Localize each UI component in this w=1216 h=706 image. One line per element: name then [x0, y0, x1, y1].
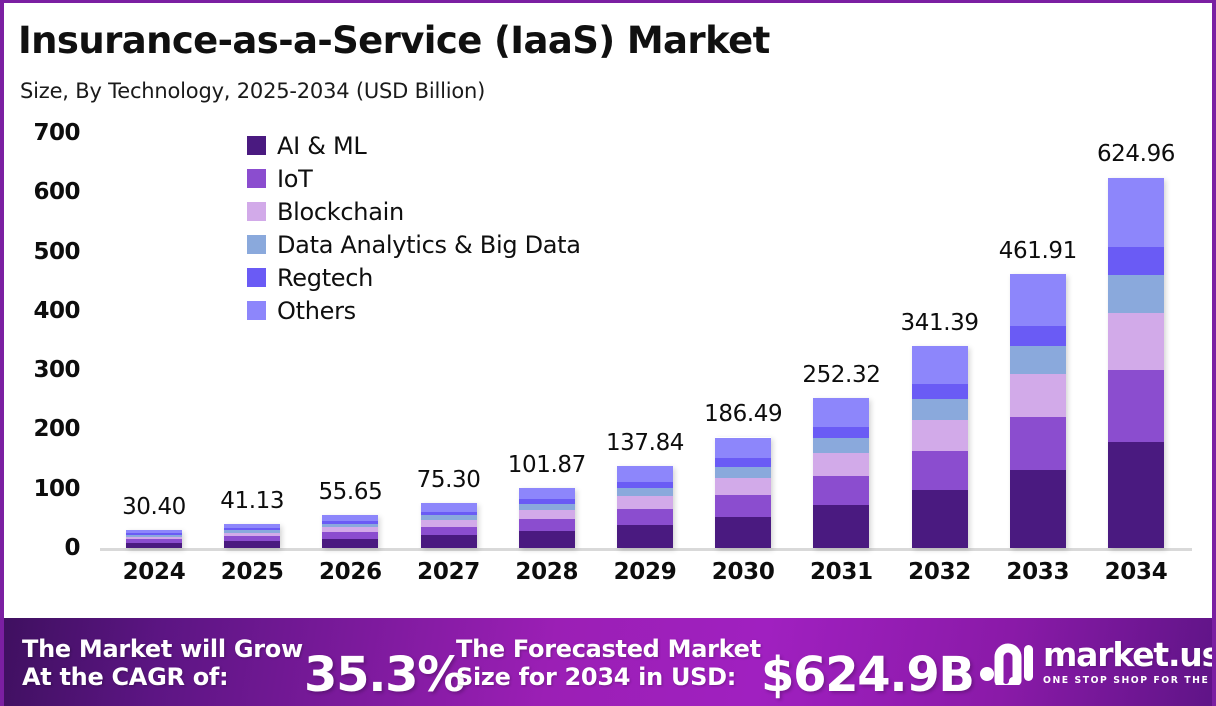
- bar-segment-ai-ml[interactable]: [224, 541, 280, 548]
- cagr-label-line1: The Market will Grow: [22, 635, 303, 663]
- bar-segment-blockchain[interactable]: [617, 496, 673, 509]
- market-us-logo-text: market.us ONE STOP SHOP FOR THE REPORTS: [1043, 638, 1216, 686]
- bar-segment-data-analytics-big-data[interactable]: [1010, 346, 1066, 374]
- bar-group-2030[interactable]: 186.492030: [715, 3, 771, 603]
- bar-segment-data-analytics-big-data[interactable]: [912, 399, 968, 420]
- chart-page: Insurance-as-a-Service (IaaS) Market Siz…: [0, 0, 1216, 706]
- bar-segment-regtech[interactable]: [813, 427, 869, 438]
- bar-segment-regtech[interactable]: [1010, 326, 1066, 347]
- y-axis-tick: 500: [4, 239, 80, 265]
- stacked-bar[interactable]: [421, 503, 477, 548]
- stacked-bar[interactable]: [813, 398, 869, 548]
- bar-total-label: 341.39: [865, 310, 1015, 336]
- bar-total-label: 186.49: [668, 401, 818, 427]
- stacked-bar[interactable]: [126, 530, 182, 548]
- bar-total-label: 624.96: [1061, 141, 1211, 167]
- bar-segment-blockchain[interactable]: [1108, 313, 1164, 370]
- stacked-bar[interactable]: [715, 437, 771, 548]
- bar-segment-blockchain[interactable]: [912, 420, 968, 451]
- stacked-bar[interactable]: [1010, 274, 1066, 548]
- bar-segment-ai-ml[interactable]: [912, 490, 968, 548]
- bar-segment-iot[interactable]: [421, 527, 477, 536]
- bar-segment-blockchain[interactable]: [519, 510, 575, 519]
- bar-segment-others[interactable]: [715, 438, 771, 459]
- bar-segment-others[interactable]: [519, 488, 575, 499]
- forecast-label-line1: The Forecasted Market: [456, 635, 761, 663]
- bar-segment-iot[interactable]: [813, 476, 869, 505]
- bar-segment-others[interactable]: [617, 466, 673, 481]
- bar-segment-ai-ml[interactable]: [126, 543, 182, 548]
- stacked-bar[interactable]: [617, 466, 673, 548]
- bar-segment-ai-ml[interactable]: [519, 531, 575, 548]
- bar-segment-regtech[interactable]: [912, 384, 968, 399]
- bar-segment-others[interactable]: [813, 398, 869, 426]
- bar-segment-regtech[interactable]: [715, 458, 771, 466]
- forecast-value: $624.9B: [761, 647, 974, 703]
- bar-segment-ai-ml[interactable]: [715, 517, 771, 549]
- bar-segment-iot[interactable]: [1010, 417, 1066, 470]
- bar-segment-blockchain[interactable]: [421, 520, 477, 527]
- y-axis-tick: 300: [4, 357, 80, 383]
- bar-segment-blockchain[interactable]: [813, 453, 869, 476]
- bar-total-label: 252.32: [766, 362, 916, 388]
- bar-group-2027[interactable]: 75.302027: [421, 3, 477, 603]
- bar-segment-data-analytics-big-data[interactable]: [1108, 275, 1164, 313]
- bar-segment-data-analytics-big-data[interactable]: [813, 438, 869, 453]
- logo-wordmark: market.us: [1043, 638, 1216, 671]
- cagr-label: The Market will Grow At the CAGR of:: [22, 635, 303, 692]
- bar-group-2025[interactable]: 41.132025: [224, 3, 280, 603]
- bar-group-2029[interactable]: 137.842029: [617, 3, 673, 603]
- legend-label: IoT: [277, 165, 313, 193]
- bar-group-2028[interactable]: 101.872028: [519, 3, 575, 603]
- forecast-label-line2: Size for 2034 in USD:: [456, 663, 761, 691]
- y-axis-tick: 200: [4, 416, 80, 442]
- bar-segment-ai-ml[interactable]: [421, 535, 477, 548]
- forecast-label: The Forecasted Market Size for 2034 in U…: [456, 635, 761, 692]
- bar-total-label: 137.84: [570, 430, 720, 456]
- cagr-value: 35.3%: [304, 647, 464, 703]
- stacked-bar[interactable]: [322, 515, 378, 548]
- bar-total-label: 461.91: [963, 238, 1113, 264]
- logo-tagline: ONE STOP SHOP FOR THE REPORTS: [1043, 675, 1216, 686]
- cagr-label-line2: At the CAGR of:: [22, 663, 303, 691]
- bar-segment-ai-ml[interactable]: [1108, 442, 1164, 548]
- bar-segment-regtech[interactable]: [1108, 247, 1164, 275]
- stacked-bar[interactable]: [224, 524, 280, 548]
- bar-segment-others[interactable]: [421, 503, 477, 511]
- stacked-bar[interactable]: [912, 346, 968, 548]
- bar-segment-others[interactable]: [1010, 274, 1066, 325]
- bar-segment-data-analytics-big-data[interactable]: [715, 467, 771, 478]
- bar-segment-ai-ml[interactable]: [1010, 470, 1066, 548]
- bar-segment-iot[interactable]: [519, 519, 575, 531]
- bar-segment-ai-ml[interactable]: [322, 539, 378, 548]
- bar-group-2026[interactable]: 55.652026: [322, 3, 378, 603]
- bar-segment-iot[interactable]: [715, 495, 771, 517]
- stacked-bar[interactable]: [1108, 178, 1164, 549]
- stacked-bar[interactable]: [519, 488, 575, 548]
- bar-segment-iot[interactable]: [1108, 370, 1164, 442]
- bar-segment-others[interactable]: [912, 346, 968, 384]
- bar-segment-iot[interactable]: [912, 451, 968, 490]
- bar-segment-data-analytics-big-data[interactable]: [617, 488, 673, 496]
- bar-group-2032[interactable]: 341.392032: [912, 3, 968, 603]
- bar-segment-blockchain[interactable]: [715, 478, 771, 495]
- market-us-logo-icon: [979, 639, 1035, 685]
- y-axis-tick: 600: [4, 179, 80, 205]
- bar-group-2031[interactable]: 252.322031: [813, 3, 869, 603]
- y-axis-tick: 0: [4, 535, 80, 561]
- bar-group-2033[interactable]: 461.912033: [1010, 3, 1066, 603]
- bottom-banner: The Market will Grow At the CAGR of: 35.…: [4, 618, 1216, 706]
- market-us-logo[interactable]: market.us ONE STOP SHOP FOR THE REPORTS: [979, 638, 1216, 686]
- y-axis-tick: 100: [4, 476, 80, 502]
- y-axis-tick: 700: [4, 120, 80, 146]
- bar-segment-others[interactable]: [1108, 178, 1164, 248]
- bar-segment-iot[interactable]: [617, 509, 673, 525]
- bar-segment-ai-ml[interactable]: [617, 525, 673, 548]
- x-axis-tick-2034: 2034: [1061, 559, 1211, 585]
- bar-segment-blockchain[interactable]: [1010, 374, 1066, 416]
- y-axis-tick: 400: [4, 298, 80, 324]
- bar-group-2034[interactable]: 624.962034: [1108, 3, 1164, 603]
- bar-segment-ai-ml[interactable]: [813, 505, 869, 548]
- chart-plot-area: 0100200300400500600700 AI & MLIoTBlockch…: [4, 3, 1216, 603]
- bar-group-2024[interactable]: 30.402024: [126, 3, 182, 603]
